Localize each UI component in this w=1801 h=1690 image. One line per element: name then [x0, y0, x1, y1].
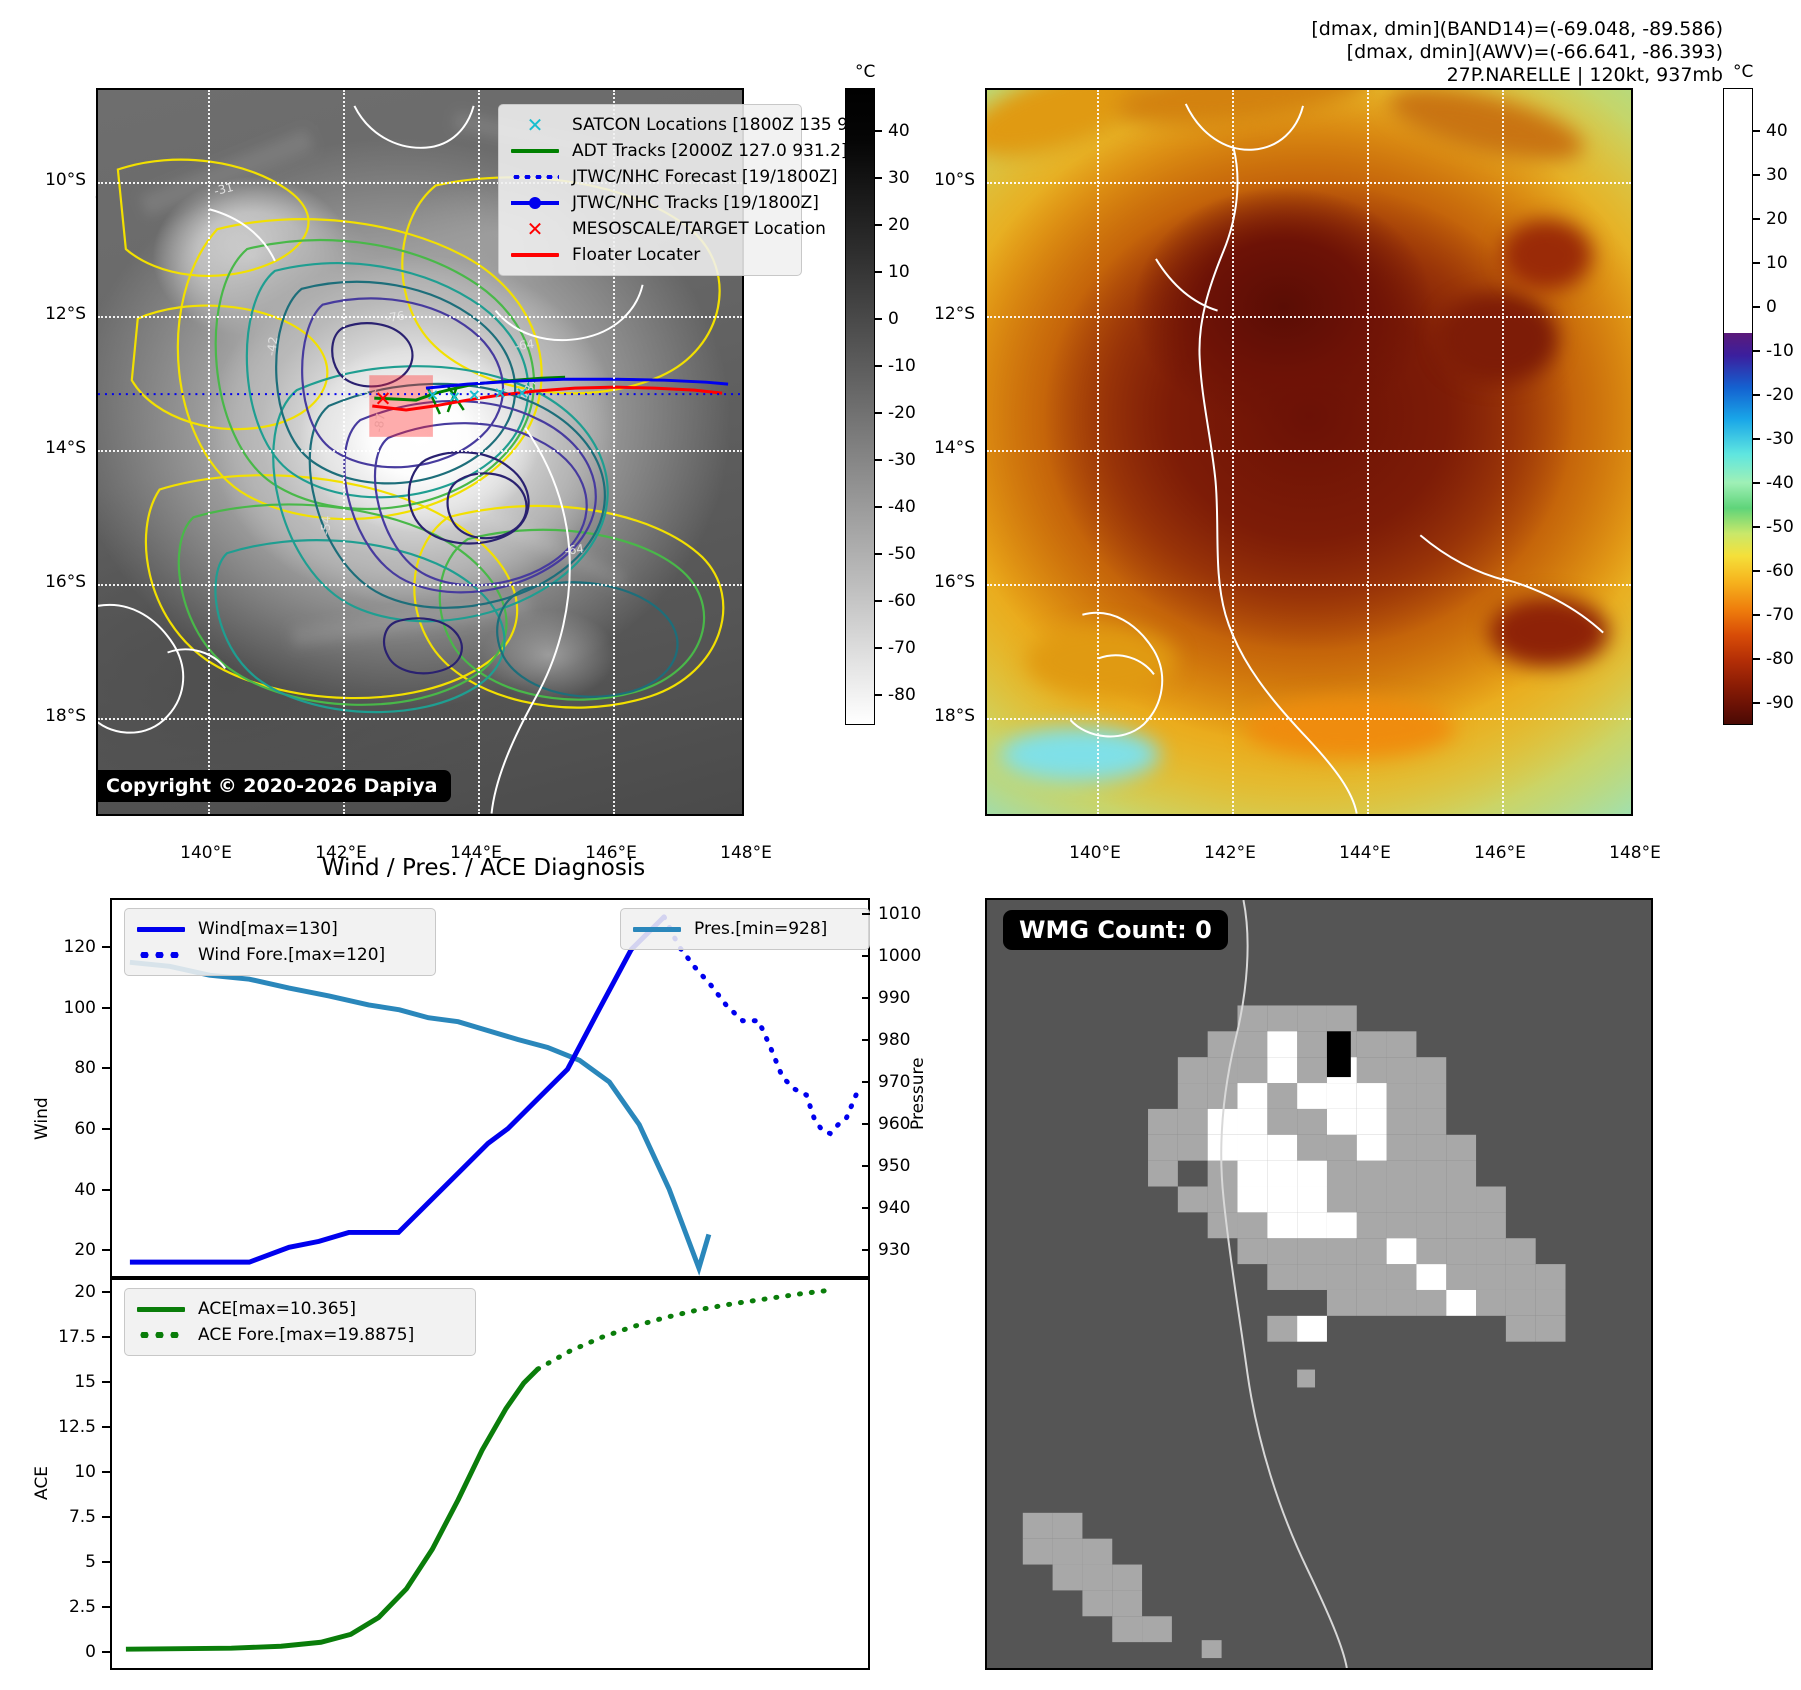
- awv-cb-tick-m10: -10: [1766, 341, 1794, 361]
- legend-item-mesoscale-target[interactable]: ✕ MESOSCALE/TARGET Location: [508, 216, 790, 242]
- legend-label: Floater Locater: [572, 245, 700, 265]
- ir-colorbar-units: °C: [855, 62, 875, 82]
- svg-text:-54: -54: [319, 515, 334, 535]
- adt-line-icon: [508, 149, 562, 153]
- ace-tick-12-5: 12.5: [44, 1417, 96, 1437]
- awv-lat-tick-10s: 10°S: [917, 170, 975, 190]
- pres-tick-1000: 1000: [878, 946, 921, 966]
- svg-text:-64: -64: [564, 542, 585, 559]
- awv-cb-tick-m80: -80: [1766, 649, 1794, 669]
- awv-lat-tick-16s: 16°S: [917, 572, 975, 592]
- legend-label: ACE[max=10.365]: [198, 1299, 356, 1319]
- svg-text:×: ×: [494, 383, 507, 402]
- legend-label: Wind[max=130]: [198, 919, 338, 939]
- ir-cb-tick-m20: -20: [888, 403, 916, 423]
- ir-cb-tick-30: 30: [888, 168, 910, 188]
- awv-cb-tick-m90: -90: [1766, 693, 1794, 713]
- ir-cb-tick-m70: -70: [888, 638, 916, 658]
- ace-forecast-dotted-icon: [134, 1332, 188, 1338]
- wind-legend: Wind[max=130] Wind Fore.[max=120]: [124, 908, 436, 976]
- wind-tick-60: 60: [62, 1119, 96, 1139]
- jtwc-line-point-icon: [508, 201, 562, 205]
- ir-cb-tick-m40: -40: [888, 497, 916, 517]
- header-stats: [dmax, dmin](BAND14)=(-69.048, -89.586) …: [1311, 18, 1723, 87]
- ace-tick-20: 20: [44, 1282, 96, 1302]
- ir-lat-tick-12s: 12°S: [28, 304, 86, 324]
- target-x-icon: ✕: [508, 219, 562, 239]
- awv-cb-tick-40: 40: [1766, 121, 1788, 141]
- ir-lat-tick-18s: 18°S: [28, 706, 86, 726]
- awv-satellite-map[interactable]: [985, 88, 1633, 816]
- ir-cb-tick-m50: -50: [888, 544, 916, 564]
- awv-cb-tick-m40: -40: [1766, 473, 1794, 493]
- wind-tick-100: 100: [62, 998, 96, 1018]
- pres-tick-990: 990: [878, 988, 910, 1008]
- ir-cb-tick-20: 20: [888, 215, 910, 235]
- diagnosis-title: Wind / Pres. / ACE Diagnosis: [96, 855, 871, 881]
- ir-cb-tick-m10: -10: [888, 356, 916, 376]
- ir-lat-tick-14s: 14°S: [28, 438, 86, 458]
- wind-line-icon: [134, 927, 188, 932]
- legend-item-jtwc-forecast[interactable]: JTWC/NHC Forecast [19/1800Z]: [508, 164, 790, 190]
- legend-label: MESOSCALE/TARGET Location: [572, 219, 826, 239]
- wmg-count-badge: WMG Count: 0: [1003, 910, 1228, 950]
- pres-tick-940: 940: [878, 1198, 910, 1218]
- storm-summary: 27P.NARELLE | 120kt, 937mb: [1311, 64, 1723, 87]
- legend-item-adt-tracks[interactable]: ADT Tracks [2000Z 127.0 931.2]: [508, 138, 790, 164]
- legend-label: ADT Tracks [2000Z 127.0 931.2]: [572, 141, 848, 161]
- ir-cb-tick-m80: -80: [888, 685, 916, 705]
- svg-text:-64: -64: [514, 337, 535, 354]
- ir-cb-tick-10: 10: [888, 262, 910, 282]
- target-x-marker: ✕: [374, 387, 391, 411]
- ace-tick-17-5: 17.5: [44, 1327, 96, 1347]
- wind-tick-80: 80: [62, 1058, 96, 1078]
- pres-tick-1010: 1010: [878, 904, 921, 924]
- ace-tick-2-5: 2.5: [44, 1597, 96, 1617]
- satcon-x-icon: ✕: [508, 115, 562, 135]
- awv-lat-tick-18s: 18°S: [917, 706, 975, 726]
- legend-item-satcon[interactable]: ✕ SATCON Locations [1800Z 135 929]: [508, 112, 790, 138]
- ace-line-icon: [134, 1307, 188, 1312]
- pressure-axis-label: Pressure: [908, 1057, 928, 1130]
- legend-item-wind[interactable]: Wind[max=130]: [134, 916, 424, 942]
- ir-lat-tick-10s: 10°S: [28, 170, 86, 190]
- svg-text:×: ×: [426, 385, 439, 404]
- legend-item-floater-locater[interactable]: Floater Locater: [508, 242, 790, 268]
- ir-lat-tick-16s: 16°S: [28, 572, 86, 592]
- awv-lon-tick-148e: 148°E: [1609, 843, 1661, 863]
- legend-label: ACE Fore.[max=19.8875]: [198, 1325, 414, 1345]
- ace-tick-5: 5: [44, 1552, 96, 1572]
- awv-cb-tick-0: 0: [1766, 297, 1777, 317]
- awv-cb-tick-m50: -50: [1766, 517, 1794, 537]
- awv-cb-tick-m70: -70: [1766, 605, 1794, 625]
- legend-label: SATCON Locations [1800Z 135 929]: [572, 115, 876, 135]
- legend-item-wind-forecast[interactable]: Wind Fore.[max=120]: [134, 942, 424, 968]
- awv-lon-tick-142e: 142°E: [1204, 843, 1256, 863]
- legend-item-pressure[interactable]: Pres.[min=928]: [630, 916, 858, 942]
- svg-text:×: ×: [515, 383, 528, 402]
- awv-lat-tick-12s: 12°S: [917, 304, 975, 324]
- wind-tick-20: 20: [62, 1240, 96, 1260]
- svg-text:×: ×: [448, 387, 461, 406]
- ir-cb-tick-m60: -60: [888, 591, 916, 611]
- ir-cb-tick-0: 0: [888, 309, 899, 329]
- awv-cb-tick-30: 30: [1766, 165, 1788, 185]
- awv-lat-tick-14s: 14°S: [917, 438, 975, 458]
- pressure-line-icon: [630, 927, 684, 932]
- ace-legend: ACE[max=10.365] ACE Fore.[max=19.8875]: [124, 1288, 476, 1356]
- awv-lon-tick-140e: 140°E: [1069, 843, 1121, 863]
- pres-tick-980: 980: [878, 1030, 910, 1050]
- wind-forecast-dotted-icon: [134, 952, 188, 958]
- awv-lon-tick-146e: 146°E: [1474, 843, 1526, 863]
- awv-cb-tick-m30: -30: [1766, 429, 1794, 449]
- legend-label: Pres.[min=928]: [694, 919, 827, 939]
- legend-label: JTWC/NHC Tracks [19/1800Z]: [572, 193, 819, 213]
- copyright-text: Copyright © 2020-2026 Dapiya: [98, 770, 451, 802]
- pres-tick-960: 960: [878, 1114, 910, 1134]
- awv-lon-tick-144e: 144°E: [1339, 843, 1391, 863]
- forecast-dotted-icon: [508, 175, 562, 179]
- awv-cb-tick-20: 20: [1766, 209, 1788, 229]
- legend-label: Wind Fore.[max=120]: [198, 945, 385, 965]
- ace-tick-15: 15: [44, 1372, 96, 1392]
- svg-text:-42: -42: [264, 336, 281, 357]
- wmg-panel[interactable]: [985, 898, 1653, 1670]
- ir-colorbar: [845, 88, 875, 725]
- awv-cb-tick-10: 10: [1766, 253, 1788, 273]
- wmg-core-cell: [1327, 1031, 1351, 1077]
- ir-cb-tick-40: 40: [888, 121, 910, 141]
- pres-tick-970: 970: [878, 1072, 910, 1092]
- wind-axis-label: Wind: [32, 1097, 52, 1140]
- awv-colorbar: [1723, 88, 1753, 725]
- floater-line-icon: [508, 253, 562, 257]
- ace-tick-7-5: 7.5: [44, 1507, 96, 1527]
- pres-tick-950: 950: [878, 1156, 910, 1176]
- dmax-dmin-band14: [dmax, dmin](BAND14)=(-69.048, -89.586): [1311, 18, 1723, 41]
- legend-item-jtwc-tracks[interactable]: JTWC/NHC Tracks [19/1800Z]: [508, 190, 790, 216]
- dmax-dmin-awv: [dmax, dmin](AWV)=(-66.641, -86.393): [1311, 41, 1723, 64]
- awv-colorbar-units: °C: [1733, 62, 1753, 82]
- legend-label: JTWC/NHC Forecast [19/1800Z]: [572, 167, 837, 187]
- wind-tick-120: 120: [62, 937, 96, 957]
- ir-cb-tick-m30: -30: [888, 450, 916, 470]
- ace-tick-0: 0: [44, 1642, 96, 1662]
- pres-tick-930: 930: [878, 1240, 910, 1260]
- legend-item-ace-forecast[interactable]: ACE Fore.[max=19.8875]: [134, 1322, 464, 1348]
- ace-tick-10: 10: [44, 1462, 96, 1482]
- wmg-grid: [987, 900, 1651, 1668]
- awv-cb-tick-m60: -60: [1766, 561, 1794, 581]
- ir-map-legend: ✕ SATCON Locations [1800Z 135 929] ADT T…: [498, 104, 802, 276]
- awv-cb-tick-m20: -20: [1766, 385, 1794, 405]
- wind-tick-40: 40: [62, 1180, 96, 1200]
- legend-item-ace[interactable]: ACE[max=10.365]: [134, 1296, 464, 1322]
- pressure-legend: Pres.[min=928]: [620, 908, 870, 950]
